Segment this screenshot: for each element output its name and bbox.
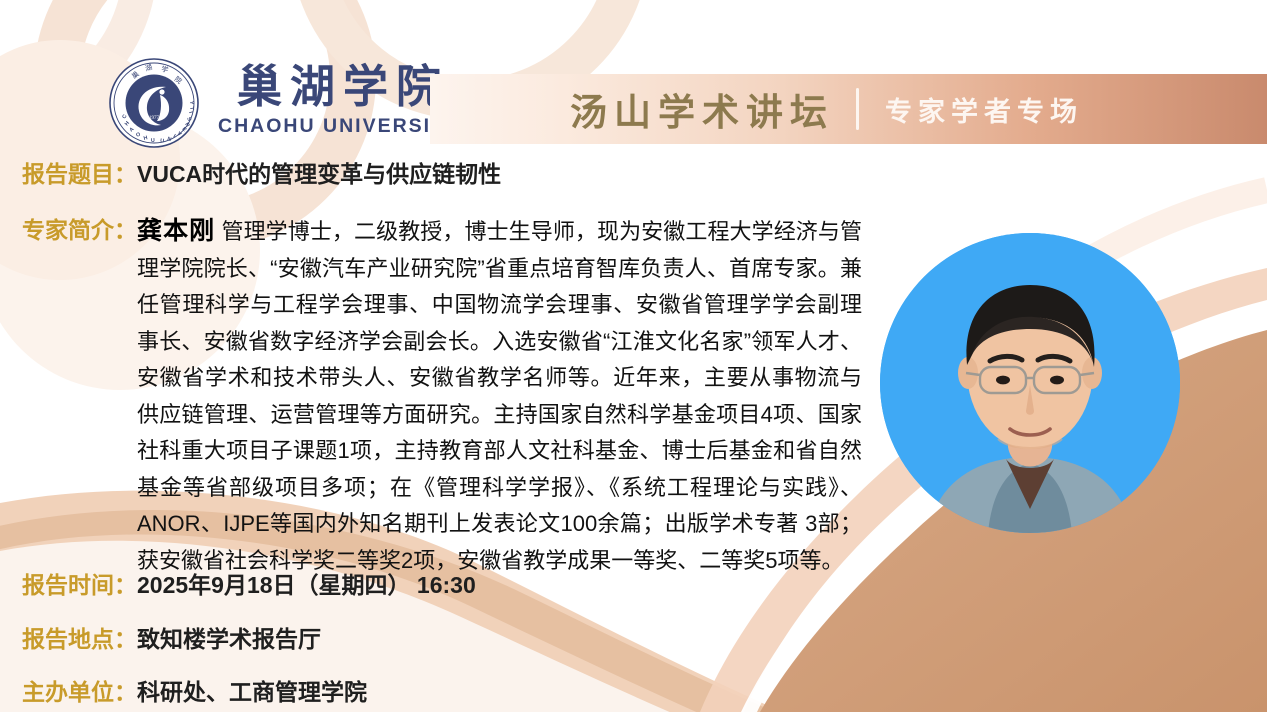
speaker-bio-text: 管理学博士，二级教授，博士生导师，现为安徽工程大学经济与管理学院院长、“安徽汽车… bbox=[137, 219, 862, 573]
organizer-value: 科研处、工商管理学院 bbox=[137, 675, 367, 709]
lecture-time-value: 2025年9月18日（星期四） 16:30 bbox=[137, 568, 476, 602]
lecture-place-value: 致知楼学术报告厅 bbox=[137, 622, 321, 656]
speaker-portrait-photo bbox=[880, 233, 1180, 533]
lecture-title-row: 报告题目： VUCA时代的管理变革与供应链韧性 bbox=[22, 157, 501, 191]
organizer-row: 主办单位： 科研处、工商管理学院 bbox=[22, 675, 367, 709]
lecture-place-row: 报告地点： 致知楼学术报告厅 bbox=[22, 622, 321, 656]
speaker-bio-body: 龚本刚 管理学博士，二级教授，博士生导师，现为安徽工程大学经济与管理学院院长、“… bbox=[137, 213, 862, 579]
lecture-place-label: 报告地点： bbox=[22, 622, 137, 656]
lecture-time-label: 报告时间： bbox=[22, 568, 137, 602]
poster-root: 1977 巢 湖 学 院 C H A O H U bbox=[0, 0, 1267, 712]
speaker-bio-row: 专家简介： 龚本刚 管理学博士，二级教授，博士生导师，现为安徽工程大学经济与管理… bbox=[22, 213, 882, 579]
speaker-bio-label: 专家简介： bbox=[22, 213, 137, 247]
organizer-label: 主办单位： bbox=[22, 675, 137, 709]
speaker-name: 龚本刚 bbox=[137, 217, 215, 245]
lecture-time-row: 报告时间： 2025年9月18日（星期四） 16:30 bbox=[22, 568, 476, 602]
lecture-title-label: 报告题目： bbox=[22, 157, 137, 191]
lecture-title-value: VUCA时代的管理变革与供应链韧性 bbox=[137, 157, 501, 191]
